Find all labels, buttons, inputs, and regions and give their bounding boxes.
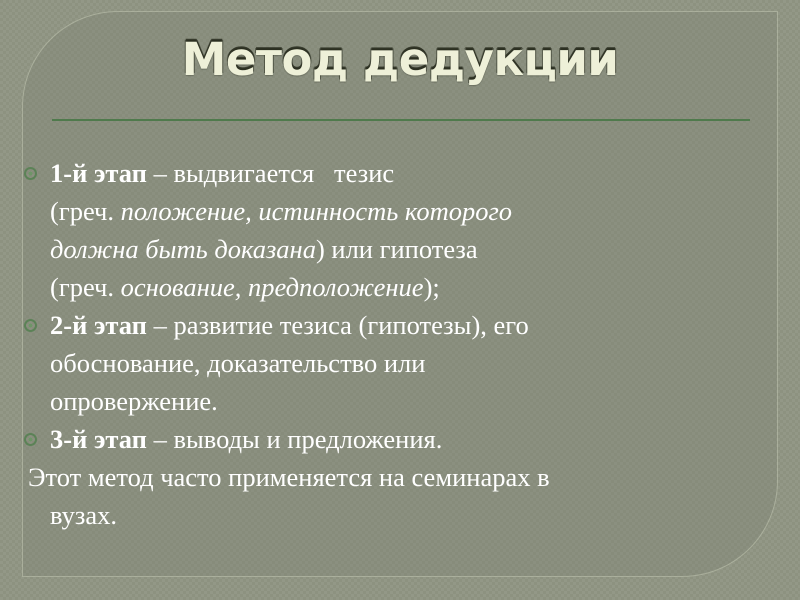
text-run-regular: опровержение. [50, 386, 218, 416]
text-run-regular: Этот метод часто применяется на семинара… [28, 462, 550, 492]
bullet-1-line: (греч. основание, предположение); [50, 268, 764, 306]
bullet-3-line: 3-й этап – выводы и предложения. [50, 420, 764, 458]
text-run-italic: должна быть доказана [50, 234, 316, 264]
slide-title-container: Метод дедукции [0, 36, 800, 83]
bullet-item-3: 3-й этап – выводы и предложения. [22, 420, 764, 458]
text-run-regular: ); [424, 272, 440, 302]
text-run-italic: положение, истинность которого [121, 196, 512, 226]
ring-bullet-icon [24, 167, 37, 180]
slide-canvas: Метод дедукции 1-й этап – выдвигается те… [0, 0, 800, 600]
text-run-regular: – выдвигается тезис [147, 158, 394, 188]
text-run-regular: ) или гипотеза [316, 234, 478, 264]
bullet-1-line: должна быть доказана) или гипотеза [50, 230, 764, 268]
title-divider-rule [52, 119, 750, 121]
closing-line: вузах. [28, 496, 764, 534]
bullet-2-line: обоснование, доказательство или [50, 344, 764, 382]
text-run-bold: 1-й этап [50, 158, 147, 188]
text-run-regular: (греч. [50, 196, 121, 226]
ring-bullet-icon [24, 433, 37, 446]
text-run-regular: обоснование, доказательство или [50, 348, 425, 378]
page-title: Метод дедукции [182, 36, 619, 83]
bullet-1-line: (греч. положение, истинность которого [50, 192, 764, 230]
text-run-regular: – выводы и предложения. [147, 424, 442, 454]
bullet-2-line: 2-й этап – развитие тезиса (гипотезы), е… [50, 306, 764, 344]
bullet-item-2: 2-й этап – развитие тезиса (гипотезы), е… [22, 306, 764, 420]
slide-body: 1-й этап – выдвигается тезис(греч. полож… [22, 154, 764, 534]
text-run-bold: 3-й этап [50, 424, 147, 454]
text-run-regular: – развитие тезиса (гипотезы), его [147, 310, 529, 340]
text-run-italic: основание, предположение [121, 272, 424, 302]
closing-line: Этот метод часто применяется на семинара… [28, 458, 764, 496]
text-run-regular: (греч. [50, 272, 121, 302]
bullet-item-1: 1-й этап – выдвигается тезис(греч. полож… [22, 154, 764, 306]
closing-paragraph: Этот метод часто применяется на семинара… [22, 458, 764, 534]
bullet-1-line: 1-й этап – выдвигается тезис [50, 154, 764, 192]
text-run-bold: 2-й этап [50, 310, 147, 340]
ring-bullet-icon [24, 319, 37, 332]
bullet-2-line: опровержение. [50, 382, 764, 420]
text-run-regular: вузах. [50, 500, 117, 530]
